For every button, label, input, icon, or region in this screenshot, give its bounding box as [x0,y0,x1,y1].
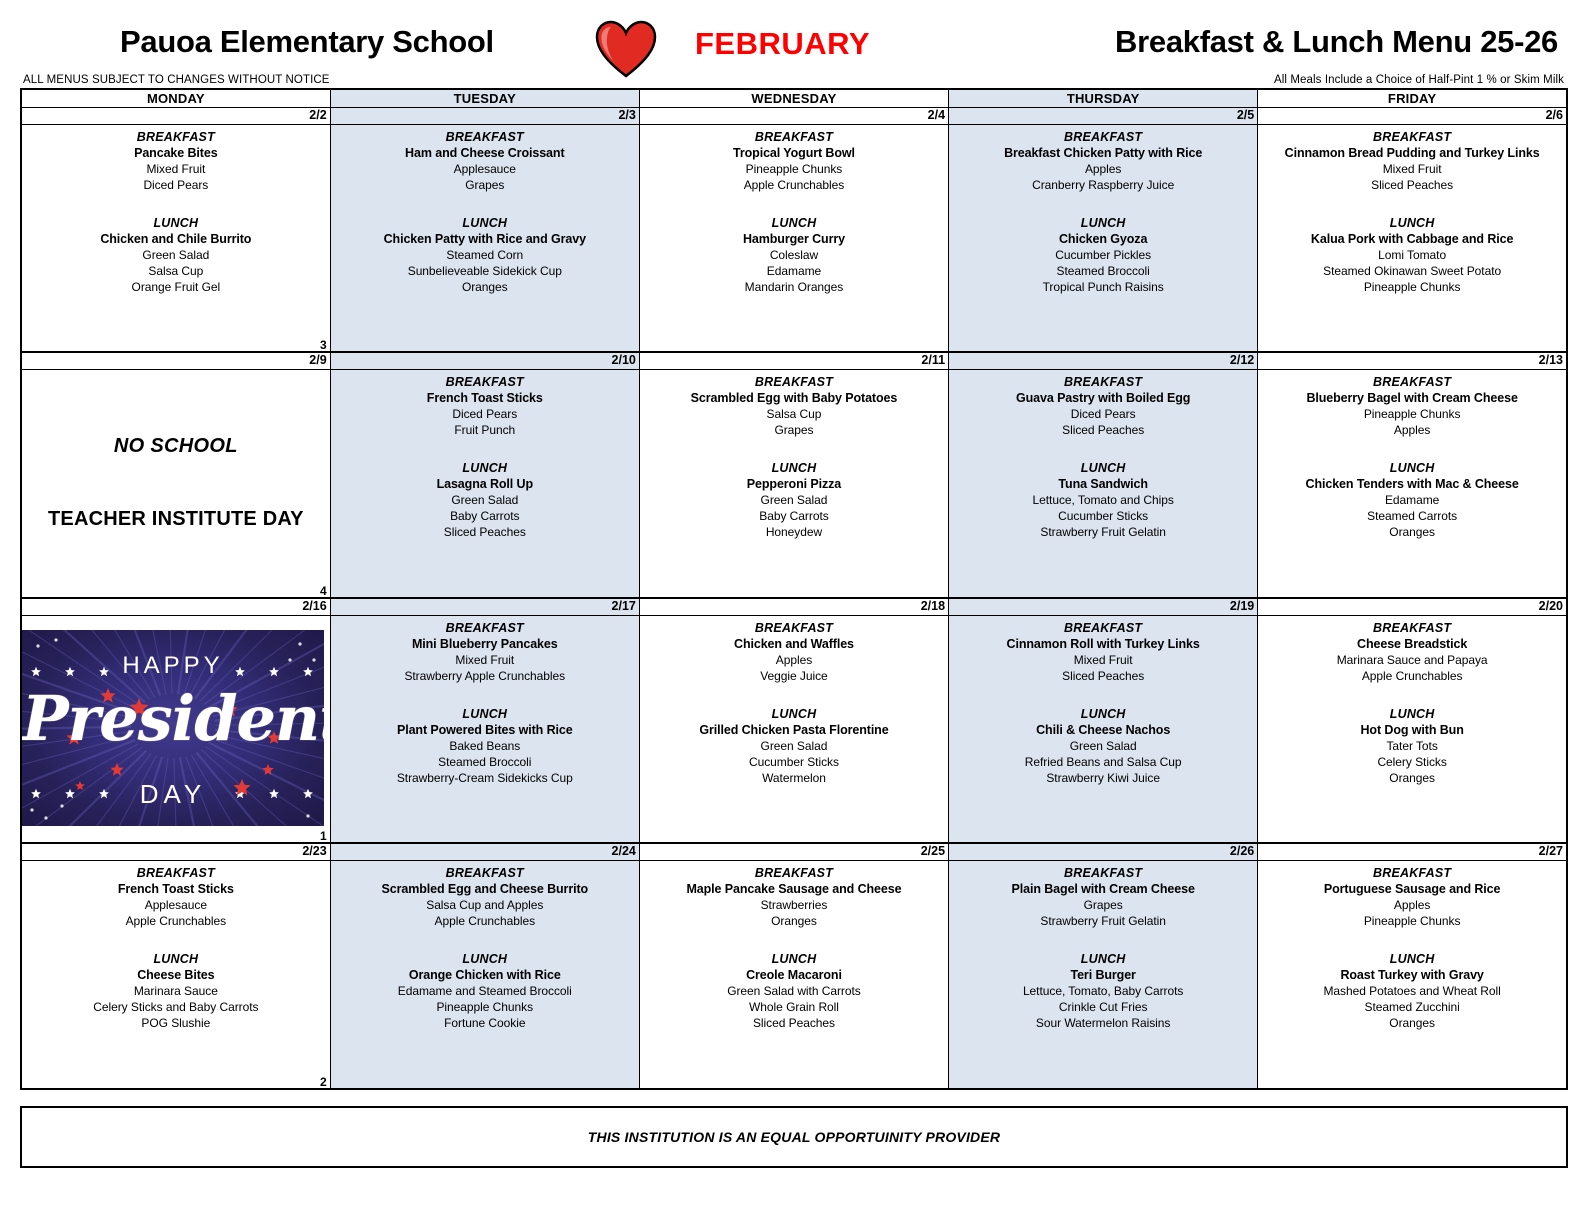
banner-line-day: DAY [22,779,324,810]
breakfast-block: BREAKFASTMini Blueberry PancakesMixed Fr… [331,616,639,684]
breakfast-label: BREAKFAST [331,129,639,145]
meal-entree: Kalua Pork with Cabbage and Rice [1258,231,1566,247]
meal-side: Apples [1258,422,1566,438]
breakfast-block: BREAKFASTFrench Toast SticksDiced PearsF… [331,370,639,438]
date-row: 2/92/102/112/122/13 [21,352,1567,370]
lunch-label: LUNCH [331,215,639,231]
breakfast-label: BREAKFAST [1258,374,1566,390]
date-cell: 2/17 [330,598,639,616]
day-cell[interactable]: BREAKFASTBreakfast Chicken Patty with Ri… [949,124,1258,352]
breakfast-label: BREAKFAST [331,374,639,390]
meal-entree: Cinnamon Bread Pudding and Turkey Links [1258,145,1566,161]
day-cell[interactable]: BREAKFASTCinnamon Bread Pudding and Turk… [1258,124,1567,352]
lunch-label: LUNCH [331,706,639,722]
lunch-block: LUNCHTeri BurgerLettuce, Tomato, Baby Ca… [949,947,1257,1031]
meal-entree: Scrambled Egg with Baby Potatoes [640,390,948,406]
lunch-block: LUNCHChicken GyozaCucumber PicklesSteame… [949,211,1257,295]
meal-entree: Chicken and Waffles [640,636,948,652]
date-row: 2/22/32/42/52/6 [21,107,1567,124]
month-title: FEBRUARY [695,26,870,62]
meal-side: Whole Grain Roll [640,999,948,1015]
meal-side: Pineapple Chunks [1258,406,1566,422]
week-number-marker: 2 [320,1076,327,1088]
dow-friday: FRIDAY [1258,89,1567,107]
meal-spacer [22,929,330,947]
breakfast-block: BREAKFASTScrambled Egg and Cheese Burrit… [331,861,639,929]
happy-presidents-day-banner: HAPPYPresident'sDAY [22,630,324,826]
meal-entree: Roast Turkey with Gravy [1258,967,1566,983]
lunch-label: LUNCH [331,951,639,967]
meal-entree: Tuna Sandwich [949,476,1257,492]
banner-line-presidents: President's [22,682,324,755]
date-cell: 2/24 [330,843,639,861]
meal-side: Pineapple Chunks [640,161,948,177]
meal-side: Marinara Sauce [22,983,330,999]
meal-side: Steamed Broccoli [331,754,639,770]
day-cell[interactable]: BREAKFASTScrambled Egg and Cheese Burrit… [330,861,639,1089]
meal-spacer [949,684,1257,702]
breakfast-block: BREAKFASTTropical Yogurt BowlPineapple C… [640,125,948,193]
lunch-block: LUNCHCheese BitesMarinara SauceCelery St… [22,947,330,1031]
date-row: 2/162/172/182/192/20 [21,598,1567,616]
meal-side: Edamame [640,263,948,279]
meal-side: Cucumber Pickles [949,247,1257,263]
meal-side: Sour Watermelon Raisins [949,1015,1257,1031]
meal-spacer [949,929,1257,947]
lunch-label: LUNCH [640,706,948,722]
date-cell: 2/25 [639,843,948,861]
meal-side: Grapes [331,177,639,193]
dow-wednesday: WEDNESDAY [639,89,948,107]
meal-spacer [640,438,948,456]
meal-side: Sunbelieveable Sidekick Cup [331,263,639,279]
date-cell: 2/10 [330,352,639,370]
meal-entree: Cheese Breadstick [1258,636,1566,652]
meal-side: Sliced Peaches [1258,177,1566,193]
meal-side: Strawberries [640,897,948,913]
meal-side: Fruit Punch [331,422,639,438]
breakfast-block: BREAKFASTMaple Pancake Sausage and Chees… [640,861,948,929]
meal-side: Orange Fruit Gel [22,279,330,295]
meal-side: Apples [640,652,948,668]
day-cell[interactable]: BREAKFASTPlain Bagel with Cream CheeseGr… [949,861,1258,1089]
lunch-label: LUNCH [640,951,948,967]
meal-side: Edamame [1258,492,1566,508]
meal-side: Salsa Cup and Apples [331,897,639,913]
meal-side: Steamed Zucchini [1258,999,1566,1015]
meal-side: Sliced Peaches [640,1015,948,1031]
meal-side: Baby Carrots [331,508,639,524]
meal-entree: Ham and Cheese Croissant [331,145,639,161]
meal-side: Pineapple Chunks [1258,279,1566,295]
day-cell[interactable]: HAPPYPresident'sDAY1 [21,615,330,843]
breakfast-label: BREAKFAST [22,865,330,881]
meal-side: Mixed Fruit [331,652,639,668]
meal-side: Grapes [640,422,948,438]
week-number-marker: 1 [320,830,327,842]
week-row: BREAKFASTFrench Toast SticksApplesauceAp… [21,861,1567,1089]
meal-side: Oranges [1258,1015,1566,1031]
date-cell: 2/9 [21,352,330,370]
milk-note-text: All Meals Include a Choice of Half-Pint … [1274,74,1564,86]
meal-side: Celery Sticks [1258,754,1566,770]
meal-spacer [1258,438,1566,456]
breakfast-block: BREAKFASTPlain Bagel with Cream CheeseGr… [949,861,1257,929]
breakfast-label: BREAKFAST [1258,129,1566,145]
meal-side: Apple Crunchables [640,177,948,193]
meal-side: Grapes [949,897,1257,913]
day-cell[interactable]: BREAKFASTMaple Pancake Sausage and Chees… [639,861,948,1089]
meal-side: Watermelon [640,770,948,786]
lunch-block: LUNCHPlant Powered Bites with RiceBaked … [331,702,639,786]
lunch-label: LUNCH [331,460,639,476]
meal-side: Pineapple Chunks [331,999,639,1015]
meal-entree: Plain Bagel with Cream Cheese [949,881,1257,897]
lunch-block: LUNCHChicken Tenders with Mac & CheeseEd… [1258,456,1566,540]
meal-spacer [331,193,639,211]
meal-side: Mashed Potatoes and Wheat Roll [1258,983,1566,999]
lunch-label: LUNCH [949,951,1257,967]
meal-side: Honeydew [640,524,948,540]
meal-side: Apple Crunchables [1258,668,1566,684]
breakfast-block: BREAKFASTScrambled Egg with Baby Potatoe… [640,370,948,438]
meal-side: Oranges [1258,524,1566,540]
menu-calendar: MONDAY TUESDAY WEDNESDAY THURSDAY FRIDAY… [20,88,1568,1090]
meal-entree: Pancake Bites [22,145,330,161]
meal-side: Steamed Carrots [1258,508,1566,524]
date-cell: 2/16 [21,598,330,616]
meal-entree: Chicken and Chile Burrito [22,231,330,247]
lunch-block: LUNCHOrange Chicken with RiceEdamame and… [331,947,639,1031]
day-cell[interactable]: BREAKFASTPortuguese Sausage and RiceAppl… [1258,861,1567,1089]
meal-side: Steamed Okinawan Sweet Potato [1258,263,1566,279]
meal-side: Steamed Corn [331,247,639,263]
meal-side: Steamed Broccoli [949,263,1257,279]
meal-side: Cranberry Raspberry Juice [949,177,1257,193]
day-cell[interactable]: BREAKFASTTropical Yogurt BowlPineapple C… [639,124,948,352]
date-row: 2/232/242/252/262/27 [21,843,1567,861]
heart-icon [595,20,657,78]
lunch-label: LUNCH [1258,215,1566,231]
equal-opportunity-footer: THIS INSTITUTION IS AN EQUAL OPPORTUINIT… [20,1106,1568,1168]
meal-side: Strawberry Apple Crunchables [331,668,639,684]
meal-side: Sliced Peaches [331,524,639,540]
meal-side: Cucumber Sticks [640,754,948,770]
lunch-label: LUNCH [949,460,1257,476]
date-cell: 2/27 [1258,843,1567,861]
no-school-notice: NO SCHOOLTEACHER INSTITUTE DAY [22,370,330,597]
meal-spacer [640,929,948,947]
breakfast-label: BREAKFAST [22,129,330,145]
meal-entree: Chicken Gyoza [949,231,1257,247]
meal-side: Green Salad [640,492,948,508]
breakfast-block: BREAKFASTPortuguese Sausage and RiceAppl… [1258,861,1566,929]
meal-entree: Hamburger Curry [640,231,948,247]
day-cell[interactable]: BREAKFASTCheese BreadstickMarinara Sauce… [1258,615,1567,843]
breakfast-block: BREAKFASTCinnamon Bread Pudding and Turk… [1258,125,1566,193]
dow-monday: MONDAY [21,89,330,107]
meal-side: Mixed Fruit [1258,161,1566,177]
day-cell[interactable]: BREAKFASTBlueberry Bagel with Cream Chee… [1258,370,1567,598]
date-cell: 2/3 [330,107,639,124]
meal-side: Apple Crunchables [331,913,639,929]
breakfast-block: BREAKFASTPancake BitesMixed FruitDiced P… [22,125,330,193]
date-cell: 2/12 [949,352,1258,370]
meal-spacer [1258,929,1566,947]
lunch-block: LUNCHChicken and Chile BurritoGreen Sala… [22,211,330,295]
week-number-marker: 3 [320,339,327,351]
lunch-block: LUNCHGrilled Chicken Pasta FlorentineGre… [640,702,948,786]
breakfast-label: BREAKFAST [640,620,948,636]
breakfast-block: BREAKFASTChicken and WafflesApplesVeggie… [640,616,948,684]
meal-side: Applesauce [22,897,330,913]
meal-side: Pineapple Chunks [1258,913,1566,929]
menu-page: Pauoa Elementary School FEBRUARY Breakfa… [0,0,1588,1220]
meal-entree: Maple Pancake Sausage and Cheese [640,881,948,897]
meal-side: Lettuce, Tomato, Baby Carrots [949,983,1257,999]
meal-side: Strawberry Fruit Gelatin [949,524,1257,540]
meal-side: POG Slushie [22,1015,330,1031]
meal-entree: Chili & Cheese Nachos [949,722,1257,738]
meal-side: Sliced Peaches [949,422,1257,438]
lunch-block: LUNCHLasagna Roll UpGreen SaladBaby Carr… [331,456,639,540]
meal-entree: Guava Pastry with Boiled Egg [949,390,1257,406]
date-cell: 2/23 [21,843,330,861]
meal-entree: Plant Powered Bites with Rice [331,722,639,738]
meal-side: Diced Pears [22,177,330,193]
meal-entree: Mini Blueberry Pancakes [331,636,639,652]
breakfast-block: BREAKFASTHam and Cheese CroissantApplesa… [331,125,639,193]
meal-entree: Teri Burger [949,967,1257,983]
meal-side: Lettuce, Tomato and Chips [949,492,1257,508]
breakfast-label: BREAKFAST [331,620,639,636]
lunch-label: LUNCH [1258,706,1566,722]
meal-spacer [949,193,1257,211]
meal-side: Strawberry-Cream Sidekicks Cup [331,770,639,786]
date-cell: 2/11 [639,352,948,370]
meal-side: Mixed Fruit [22,161,330,177]
day-cell[interactable]: NO SCHOOLTEACHER INSTITUTE DAY4 [21,370,330,598]
meal-side: Strawberry Kiwi Juice [949,770,1257,786]
lunch-label: LUNCH [640,460,948,476]
meal-spacer [640,193,948,211]
lunch-block: LUNCHHot Dog with BunTater TotsCelery St… [1258,702,1566,786]
date-cell: 2/5 [949,107,1258,124]
meal-side: Refried Beans and Salsa Cup [949,754,1257,770]
meal-entree: Pepperoni Pizza [640,476,948,492]
meal-entree: Creole Macaroni [640,967,948,983]
date-cell: 2/19 [949,598,1258,616]
meal-side: Oranges [640,913,948,929]
day-cell[interactable]: BREAKFASTMini Blueberry PancakesMixed Fr… [330,615,639,843]
date-cell: 2/13 [1258,352,1567,370]
meal-spacer [1258,193,1566,211]
meal-spacer [331,929,639,947]
breakfast-block: BREAKFASTFrench Toast SticksApplesauceAp… [22,861,330,929]
dow-tuesday: TUESDAY [330,89,639,107]
lunch-block: LUNCHHamburger CurryColeslawEdamameManda… [640,211,948,295]
meal-entree: Grilled Chicken Pasta Florentine [640,722,948,738]
banner-line-happy: HAPPY [22,652,324,680]
lunch-label: LUNCH [1258,951,1566,967]
meal-entree: Scrambled Egg and Cheese Burrito [331,881,639,897]
day-cell[interactable]: BREAKFASTCinnamon Roll with Turkey Links… [949,615,1258,843]
breakfast-block: BREAKFASTGuava Pastry with Boiled EggDic… [949,370,1257,438]
day-cell[interactable]: BREAKFASTFrench Toast SticksDiced PearsF… [330,370,639,598]
meal-entree: Chicken Tenders with Mac & Cheese [1258,476,1566,492]
meal-entree: Portuguese Sausage and Rice [1258,881,1566,897]
meal-side: Green Salad [22,247,330,263]
lunch-label: LUNCH [22,215,330,231]
week-row: NO SCHOOLTEACHER INSTITUTE DAY4BREAKFAST… [21,370,1567,598]
day-cell[interactable]: BREAKFASTFrench Toast SticksApplesauceAp… [21,861,330,1089]
meal-side: Green Salad [949,738,1257,754]
meal-side: Veggie Juice [640,668,948,684]
meal-entree: Lasagna Roll Up [331,476,639,492]
breakfast-label: BREAKFAST [949,129,1257,145]
lunch-label: LUNCH [640,215,948,231]
meal-spacer [331,438,639,456]
breakfast-label: BREAKFAST [949,620,1257,636]
menu-title: Breakfast & Lunch Menu 25-26 [1115,24,1558,60]
meal-entree: Hot Dog with Bun [1258,722,1566,738]
meal-side: Green Salad with Carrots [640,983,948,999]
breakfast-label: BREAKFAST [640,374,948,390]
meal-entree: Cheese Bites [22,967,330,983]
meal-spacer [640,684,948,702]
meal-side: Tater Tots [1258,738,1566,754]
lunch-block: LUNCHTuna SandwichLettuce, Tomato and Ch… [949,456,1257,540]
meal-side: Strawberry Fruit Gelatin [949,913,1257,929]
meal-side: Edamame and Steamed Broccoli [331,983,639,999]
meal-entree: Cinnamon Roll with Turkey Links [949,636,1257,652]
date-cell: 2/18 [639,598,948,616]
lunch-label: LUNCH [949,215,1257,231]
date-cell: 2/6 [1258,107,1567,124]
meal-side: Apples [949,161,1257,177]
lunch-label: LUNCH [22,951,330,967]
meal-side: Tropical Punch Raisins [949,279,1257,295]
teacher-institute-day-label: TEACHER INSTITUTE DAY [48,508,304,531]
breakfast-block: BREAKFASTCheese BreadstickMarinara Sauce… [1258,616,1566,684]
disclaimer-text: ALL MENUS SUBJECT TO CHANGES WITHOUT NOT… [23,74,330,86]
meal-side: Crinkle Cut Fries [949,999,1257,1015]
meal-side: Green Salad [331,492,639,508]
meal-side: Lomi Tomato [1258,247,1566,263]
meal-side: Mixed Fruit [949,652,1257,668]
date-cell: 2/26 [949,843,1258,861]
breakfast-label: BREAKFAST [1258,620,1566,636]
meal-entree: French Toast Sticks [22,881,330,897]
breakfast-block: BREAKFASTBreakfast Chicken Patty with Ri… [949,125,1257,193]
meal-side: Sliced Peaches [949,668,1257,684]
date-cell: 2/2 [21,107,330,124]
meal-side: Cucumber Sticks [949,508,1257,524]
meal-side: Oranges [1258,770,1566,786]
day-cell[interactable]: BREAKFASTPancake BitesMixed FruitDiced P… [21,124,330,352]
week-row: BREAKFASTPancake BitesMixed FruitDiced P… [21,124,1567,352]
breakfast-label: BREAKFAST [331,865,639,881]
day-cell[interactable]: BREAKFASTHam and Cheese CroissantApplesa… [330,124,639,352]
breakfast-label: BREAKFAST [949,865,1257,881]
meal-side: Salsa Cup [640,406,948,422]
day-cell[interactable]: BREAKFASTGuava Pastry with Boiled EggDic… [949,370,1258,598]
school-name: Pauoa Elementary School [120,24,494,60]
breakfast-block: BREAKFASTBlueberry Bagel with Cream Chee… [1258,370,1566,438]
week-number-marker: 4 [320,585,327,597]
meal-entree: Chicken Patty with Rice and Gravy [331,231,639,247]
breakfast-label: BREAKFAST [949,374,1257,390]
meal-side: Celery Sticks and Baby Carrots [22,999,330,1015]
meal-side: Baked Beans [331,738,639,754]
breakfast-block: BREAKFASTCinnamon Roll with Turkey Links… [949,616,1257,684]
lunch-block: LUNCHPepperoni PizzaGreen SaladBaby Carr… [640,456,948,540]
week-row: HAPPYPresident'sDAY1BREAKFASTMini Bluebe… [21,615,1567,843]
dow-thursday: THURSDAY [949,89,1258,107]
lunch-label: LUNCH [949,706,1257,722]
date-cell: 2/4 [639,107,948,124]
date-cell: 2/20 [1258,598,1567,616]
meal-side: Diced Pears [331,406,639,422]
meal-side: Applesauce [331,161,639,177]
meal-entree: French Toast Sticks [331,390,639,406]
lunch-block: LUNCHKalua Pork with Cabbage and RiceLom… [1258,211,1566,295]
breakfast-label: BREAKFAST [640,865,948,881]
meal-entree: Breakfast Chicken Patty with Rice [949,145,1257,161]
meal-spacer [1258,684,1566,702]
meal-side: Salsa Cup [22,263,330,279]
meal-spacer [22,193,330,211]
meal-side: Oranges [331,279,639,295]
meal-side: Apple Crunchables [22,913,330,929]
meal-side: Marinara Sauce and Papaya [1258,652,1566,668]
page-header: Pauoa Elementary School FEBRUARY Breakfa… [20,0,1568,88]
no-school-label: NO SCHOOL [114,435,238,458]
lunch-block: LUNCHCreole MacaroniGreen Salad with Car… [640,947,948,1031]
meal-spacer [949,438,1257,456]
lunch-block: LUNCHChili & Cheese NachosGreen SaladRef… [949,702,1257,786]
meal-side: Fortune Cookie [331,1015,639,1031]
meal-side: Baby Carrots [640,508,948,524]
breakfast-label: BREAKFAST [1258,865,1566,881]
meal-entree: Orange Chicken with Rice [331,967,639,983]
lunch-label: LUNCH [1258,460,1566,476]
meal-spacer [331,684,639,702]
meal-side: Apples [1258,897,1566,913]
meal-side: Diced Pears [949,406,1257,422]
meal-entree: Tropical Yogurt Bowl [640,145,948,161]
meal-side: Coleslaw [640,247,948,263]
meal-entree: Blueberry Bagel with Cream Cheese [1258,390,1566,406]
meal-side: Green Salad [640,738,948,754]
day-of-week-header-row: MONDAY TUESDAY WEDNESDAY THURSDAY FRIDAY [21,89,1567,107]
footer-text: THIS INSTITUTION IS AN EQUAL OPPORTUINIT… [588,1129,1000,1145]
lunch-block: LUNCHChicken Patty with Rice and GravySt… [331,211,639,295]
day-cell[interactable]: BREAKFASTChicken and WafflesApplesVeggie… [639,615,948,843]
day-cell[interactable]: BREAKFASTScrambled Egg with Baby Potatoe… [639,370,948,598]
lunch-block: LUNCHRoast Turkey with GravyMashed Potat… [1258,947,1566,1031]
breakfast-label: BREAKFAST [640,129,948,145]
meal-side: Mandarin Oranges [640,279,948,295]
